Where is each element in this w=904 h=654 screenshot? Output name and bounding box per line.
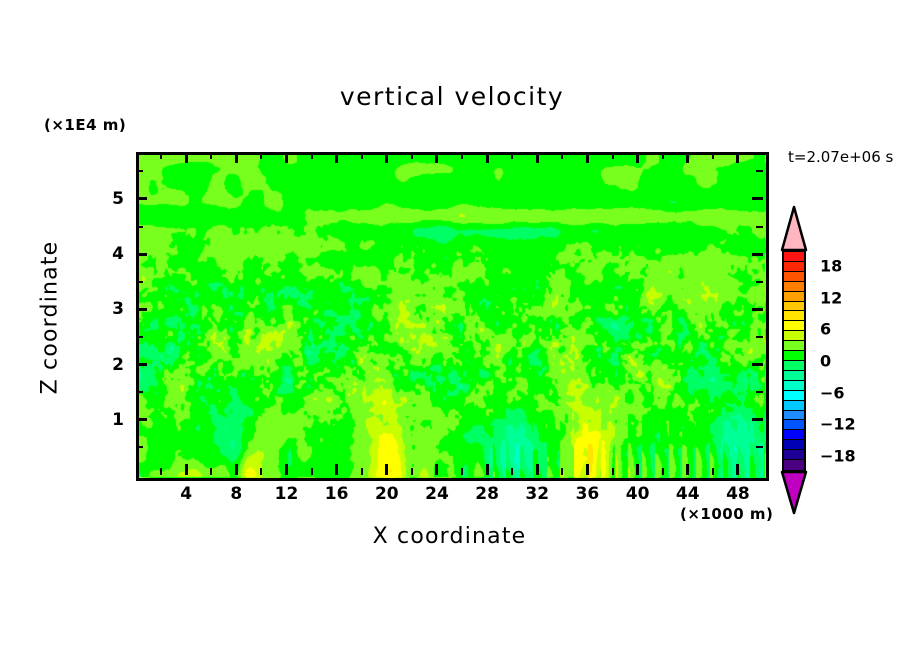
tick-mark <box>385 464 388 475</box>
tick-mark <box>335 464 338 475</box>
colorbar-band <box>784 391 804 401</box>
tick-mark <box>586 152 589 163</box>
x-axis-title: X coordinate <box>136 524 763 549</box>
colorbar-band <box>784 460 804 470</box>
x-tick-label: 12 <box>275 484 299 504</box>
tick-mark <box>311 152 313 159</box>
tick-mark <box>752 197 763 200</box>
tick-mark <box>136 281 143 283</box>
tick-mark <box>486 464 489 475</box>
x-tick-label: 36 <box>576 484 600 504</box>
tick-mark <box>136 170 143 172</box>
colorbar-tick-label: 6 <box>820 320 831 339</box>
colorbar-band <box>784 450 804 460</box>
tick-mark <box>136 446 143 448</box>
tick-mark <box>486 152 489 163</box>
tick-mark <box>285 464 288 475</box>
colorbar-band <box>784 351 804 361</box>
time-annotation: t=2.07e+06 s <box>788 148 893 166</box>
tick-mark <box>461 152 463 159</box>
colorbar-band <box>784 331 804 341</box>
colorbar-tick-label: −12 <box>820 415 856 434</box>
tick-mark <box>335 152 338 163</box>
colorbar-bands <box>782 250 806 472</box>
tick-mark <box>160 468 162 475</box>
tick-mark <box>511 468 513 475</box>
x-tick-label: 24 <box>425 484 449 504</box>
x-tick-label: 28 <box>475 484 499 504</box>
tick-mark <box>210 468 212 475</box>
colorbar: 181260−6−12−18 <box>776 205 816 515</box>
x-axis-unit-label: (×1000 m) <box>680 505 773 523</box>
tick-mark <box>756 391 763 393</box>
y-tick-label: 5 <box>90 189 124 209</box>
colorbar-band <box>784 440 804 450</box>
colorbar-tick-label: 12 <box>820 288 842 307</box>
tick-mark <box>361 152 363 159</box>
tick-mark <box>385 152 388 163</box>
y-tick-label: 3 <box>90 299 124 319</box>
tick-mark <box>136 391 143 393</box>
tick-mark <box>662 468 664 475</box>
tick-mark <box>636 464 639 475</box>
tick-mark <box>662 152 664 159</box>
colorbar-tick-label: −18 <box>820 447 856 466</box>
tick-mark <box>586 464 589 475</box>
tick-mark <box>561 468 563 475</box>
tick-mark <box>752 253 763 256</box>
tick-mark <box>210 152 212 159</box>
tick-mark <box>461 468 463 475</box>
colorbar-band <box>784 411 804 421</box>
colorbar-band <box>784 420 804 430</box>
tick-mark <box>612 468 614 475</box>
tick-mark <box>260 152 262 159</box>
x-tick-label: 20 <box>375 484 399 504</box>
tick-mark <box>686 152 689 163</box>
x-tick-label: 32 <box>525 484 549 504</box>
chart-title: vertical velocity <box>0 82 904 111</box>
y-axis-title: Z coordinate <box>38 238 63 398</box>
tick-mark <box>756 281 763 283</box>
colorbar-tick-label: 18 <box>820 256 842 275</box>
tick-mark <box>756 446 763 448</box>
tick-mark <box>136 197 147 200</box>
tick-mark <box>260 468 262 475</box>
tick-mark <box>235 152 238 163</box>
colorbar-band <box>784 341 804 351</box>
tick-mark <box>311 468 313 475</box>
chart-container: vertical velocity (×1E4 m) (×1000 m) Z c… <box>0 0 904 654</box>
x-tick-label: 44 <box>676 484 700 504</box>
tick-mark <box>136 226 143 228</box>
tick-mark <box>756 170 763 172</box>
colorbar-band <box>784 401 804 411</box>
tick-mark <box>612 152 614 159</box>
y-tick-label: 4 <box>90 244 124 264</box>
tick-mark <box>136 253 147 256</box>
tick-mark <box>136 336 143 338</box>
colorbar-band <box>784 282 804 292</box>
tick-mark <box>411 468 413 475</box>
tick-mark <box>752 363 763 366</box>
plot-area <box>136 152 769 481</box>
tick-mark <box>511 152 513 159</box>
tick-mark <box>435 464 438 475</box>
colorbar-band <box>784 292 804 302</box>
colorbar-band <box>784 252 804 262</box>
tick-mark <box>285 152 288 163</box>
x-tick-label: 40 <box>626 484 650 504</box>
tick-mark <box>160 152 162 159</box>
colorbar-tick-label: −6 <box>820 383 845 402</box>
tick-mark <box>752 418 763 421</box>
colorbar-band <box>784 262 804 272</box>
colorbar-band <box>784 381 804 391</box>
colorbar-band <box>784 321 804 331</box>
colorbar-band <box>784 302 804 312</box>
x-tick-label: 16 <box>325 484 349 504</box>
tick-mark <box>636 152 639 163</box>
colorbar-band <box>784 272 804 282</box>
tick-mark <box>561 152 563 159</box>
tick-mark <box>736 152 739 163</box>
tick-mark <box>756 336 763 338</box>
tick-mark <box>235 464 238 475</box>
x-tick-label: 48 <box>726 484 750 504</box>
tick-mark <box>752 308 763 311</box>
y-tick-label: 2 <box>90 355 124 375</box>
x-tick-label: 8 <box>230 484 242 504</box>
tick-mark <box>136 418 147 421</box>
x-tick-label: 4 <box>180 484 192 504</box>
tick-mark <box>185 152 188 163</box>
tick-mark <box>536 152 539 163</box>
tick-mark <box>712 468 714 475</box>
tick-mark <box>435 152 438 163</box>
tick-mark <box>411 152 413 159</box>
contour-field <box>139 155 766 478</box>
tick-mark <box>736 464 739 475</box>
colorbar-band <box>784 311 804 321</box>
tick-mark <box>136 308 147 311</box>
tick-mark <box>756 226 763 228</box>
tick-mark <box>712 152 714 159</box>
tick-mark <box>686 464 689 475</box>
colorbar-band <box>784 371 804 381</box>
tick-mark <box>185 464 188 475</box>
colorbar-band <box>784 361 804 371</box>
tick-mark <box>536 464 539 475</box>
colorbar-band <box>784 430 804 440</box>
tick-mark <box>361 468 363 475</box>
y-tick-label: 1 <box>90 410 124 430</box>
tick-mark <box>136 363 147 366</box>
colorbar-tick-label: 0 <box>820 352 831 371</box>
y-axis-unit-label: (×1E4 m) <box>44 116 126 134</box>
